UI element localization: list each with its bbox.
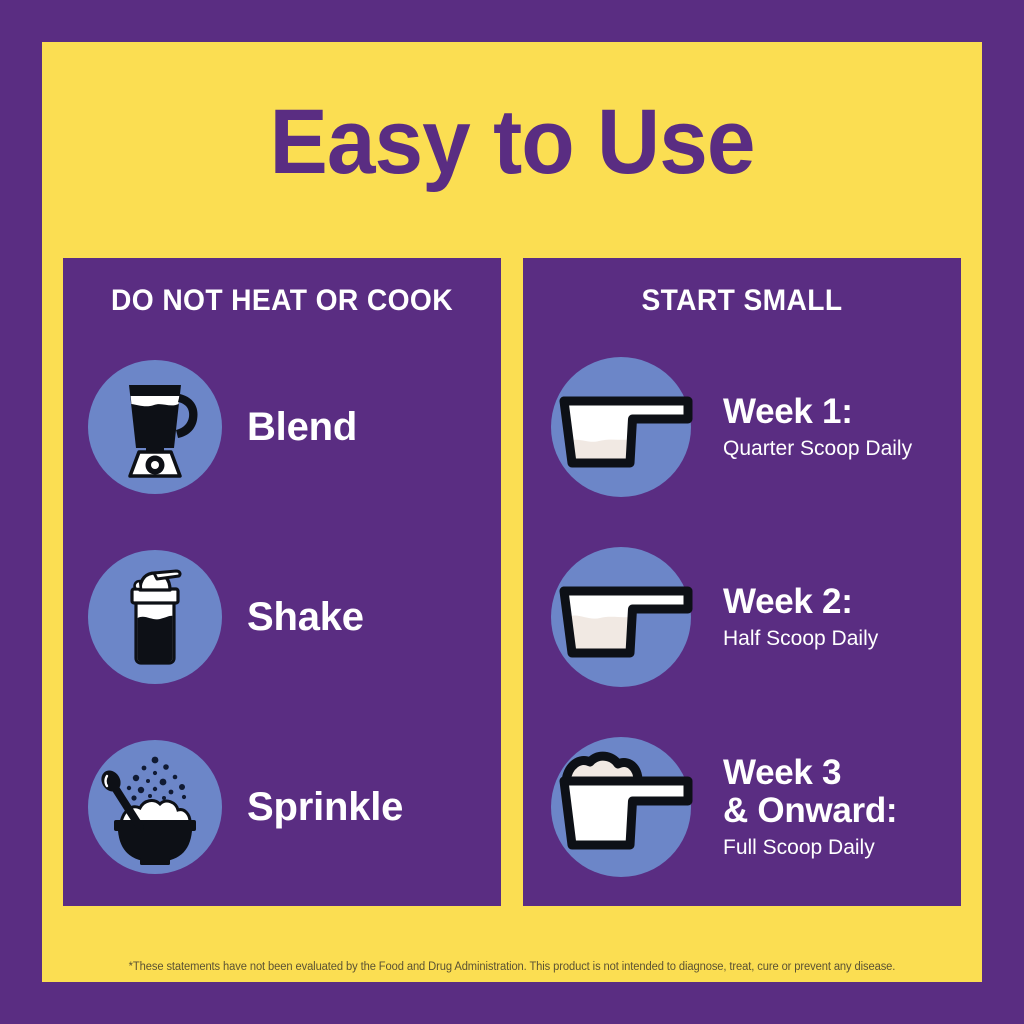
dosage-week-subtitle: Quarter Scoop Daily [723,437,912,461]
dosage-week-title: Week 2: [723,583,878,621]
method-list: Blend [63,332,501,902]
page-title: Easy to Use [66,94,959,190]
icon-container [63,740,247,874]
list-item-label: Shake [247,595,364,639]
icon-circle-background [88,550,222,684]
bowl-with-spoon-icon [96,748,214,866]
list-item: Blend [63,332,501,522]
icon-container [523,357,719,497]
panel-do-not-heat-or-cook: DO NOT HEAT OR COOK [63,258,501,906]
list-item: Week 2: Half Scoop Daily [523,522,961,712]
icon-circle-background [551,737,691,877]
panel-start-small: START SMALL [523,258,961,906]
panel-heading-right: START SMALL [536,284,948,318]
dosage-week-title: Week 1: [723,393,912,431]
icon-circle-background [88,740,222,874]
panels-container: DO NOT HEAT OR COOK [63,258,961,906]
dosage-week-subtitle: Full Scoop Daily [723,836,897,860]
dosage-week-subtitle: Half Scoop Daily [723,627,878,651]
dosage-text: Week 3 & Onward: Full Scoop Daily [719,754,897,860]
icon-circle-background [551,357,691,497]
list-item: Week 1: Quarter Scoop Daily [523,332,961,522]
dosage-week-title: Week 3 & Onward: [723,754,897,830]
full-scoop-icon [546,747,696,867]
quarter-scoop-icon [546,371,696,483]
half-scoop-icon [546,561,696,673]
blender-icon [100,372,210,482]
list-item: Shake [63,522,501,712]
shaker-bottle-icon [100,562,210,672]
panel-heading-left: DO NOT HEAT OR COOK [76,284,488,318]
dosage-schedule-list: Week 1: Quarter Scoop Daily [523,332,961,902]
yellow-canvas: Easy to Use DO NOT HEAT OR COOK [42,42,982,982]
disclaimer-text: *These statements have not been evaluate… [56,960,968,974]
icon-container [523,547,719,687]
dosage-text: Week 2: Half Scoop Daily [719,583,878,651]
icon-container [63,550,247,684]
sprinkle-dots [127,757,186,801]
icon-container [63,360,247,494]
list-item-label: Blend [247,405,357,449]
list-item: Week 3 & Onward: Full Scoop Daily [523,712,961,902]
easy-to-use-infographic: Easy to Use DO NOT HEAT OR COOK [0,0,1024,1024]
icon-container [523,737,719,877]
list-item-label: Sprinkle [247,785,403,829]
icon-circle-background [88,360,222,494]
dosage-text: Week 1: Quarter Scoop Daily [719,393,912,461]
list-item: Sprinkle [63,712,501,902]
icon-circle-background [551,547,691,687]
